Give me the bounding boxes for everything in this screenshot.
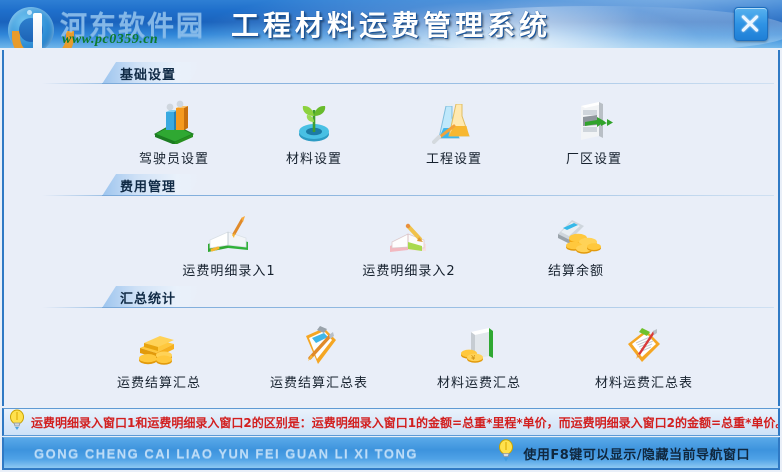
footer-hint-text: 使用F8键可以显示/隐藏当前导航窗口 bbox=[523, 444, 750, 463]
section-header: 汇总统计 bbox=[4, 286, 782, 308]
factory-export-icon bbox=[534, 96, 654, 144]
site-watermark-logo-icon bbox=[2, 1, 64, 48]
close-button[interactable] bbox=[734, 7, 768, 41]
section-header: 基础设置 bbox=[4, 62, 782, 84]
title-bar: 河东软件园 www.pc0359.cn 工程材料运费管理系统 bbox=[0, 0, 782, 48]
section-title-fee: 费用管理 bbox=[102, 174, 202, 196]
tile-grid-basic: 驾驶员设置 材料设置 bbox=[4, 84, 782, 162]
lightbulb-icon bbox=[8, 409, 26, 436]
nav-tile-label: 材料运费汇总表 bbox=[584, 372, 704, 391]
footer-hint: 使用F8键可以显示/隐藏当前导航窗口 bbox=[497, 439, 750, 468]
nav-tile-freight-entry-2[interactable]: 运费明细录入2 bbox=[349, 208, 469, 279]
nav-tile-label: 运费结算汇总表 bbox=[259, 372, 379, 391]
notice-bar: 运费明细录入窗口1和运费明细录入窗口2的区别是：运费明细录入窗口1的金额=总重*… bbox=[2, 408, 780, 436]
section-summary-statistics: 汇总统计 bbox=[4, 286, 782, 386]
nav-tile-label: 材料设置 bbox=[254, 148, 374, 167]
nav-tile-label: 材料运费汇总 bbox=[419, 372, 539, 391]
application-window: 河东软件园 www.pc0359.cn 工程材料运费管理系统 基础设置 bbox=[0, 0, 782, 472]
tile-grid-fee: 运费明细录入1 bbox=[4, 196, 782, 274]
nav-tile-label: 运费明细录入2 bbox=[349, 260, 469, 279]
open-book-green-icon bbox=[169, 208, 289, 256]
nav-tile-freight-entry-1[interactable]: 运费明细录入1 bbox=[169, 208, 289, 279]
nav-tile-settlement-balance[interactable]: 结算余额 bbox=[516, 208, 636, 279]
nav-tile-label: 运费明细录入1 bbox=[169, 260, 289, 279]
nav-tile-label: 运费结算汇总 bbox=[99, 372, 219, 391]
section-header: 费用管理 bbox=[4, 174, 782, 196]
nav-tile-freight-settlement-summary[interactable]: 运费结算汇总 bbox=[99, 320, 219, 391]
gold-bars-icon bbox=[99, 320, 219, 368]
titlebar-sheen-secondary bbox=[400, 6, 782, 48]
status-bar: GONG CHENG CAI LIAO YUN FEI GUAN LI XI T… bbox=[2, 437, 780, 470]
coins-calculator-icon bbox=[516, 208, 636, 256]
driver-chart-icon bbox=[114, 96, 234, 144]
section-fee-management: 费用管理 bbox=[4, 174, 782, 274]
nav-tile-driver-settings[interactable]: 驾驶员设置 bbox=[114, 96, 234, 167]
nav-tile-label: 结算余额 bbox=[516, 260, 636, 279]
tile-grid-summary: 运费结算汇总 运费结算汇总表 bbox=[4, 308, 782, 386]
sprout-icon bbox=[254, 96, 374, 144]
clipboard-pen-icon bbox=[259, 320, 379, 368]
nav-tile-label: 工程设置 bbox=[394, 148, 514, 167]
navigation-panel: 基础设置 bbox=[2, 50, 780, 406]
titlebar-sheen bbox=[330, 0, 782, 48]
nav-tile-label: 厂区设置 bbox=[534, 148, 654, 167]
watermark-site-url: www.pc0359.cn bbox=[62, 32, 158, 48]
svg-text:¥: ¥ bbox=[471, 354, 476, 362]
nav-tile-material-settings[interactable]: 材料设置 bbox=[254, 96, 374, 167]
section-title-basic: 基础设置 bbox=[102, 62, 202, 84]
lightbulb-icon bbox=[497, 439, 515, 468]
nav-tile-project-settings[interactable]: 工程设置 bbox=[394, 96, 514, 167]
section-basic-settings: 基础设置 bbox=[4, 62, 782, 162]
nav-tile-factory-settings[interactable]: 厂区设置 bbox=[534, 96, 654, 167]
nav-tile-material-freight-report[interactable]: 材料运费汇总表 bbox=[584, 320, 704, 391]
nav-tile-freight-settlement-report[interactable]: 运费结算汇总表 bbox=[259, 320, 379, 391]
clipboard-report-icon bbox=[584, 320, 704, 368]
footer-pinyin-title: GONG CHENG CAI LIAO YUN FEI GUAN LI XI T… bbox=[34, 446, 418, 461]
nav-tile-label: 驾驶员设置 bbox=[114, 148, 234, 167]
nav-tile-material-freight-summary[interactable]: ¥ 材料运费汇总 bbox=[419, 320, 539, 391]
section-title-summary: 汇总统计 bbox=[102, 286, 202, 308]
open-book-pencil-icon bbox=[349, 208, 469, 256]
flasks-icon bbox=[394, 96, 514, 144]
notice-text: 运费明细录入窗口1和运费明细录入窗口2的区别是：运费明细录入窗口1的金额=总重*… bbox=[31, 414, 780, 431]
book-coins-icon: ¥ bbox=[419, 320, 539, 368]
